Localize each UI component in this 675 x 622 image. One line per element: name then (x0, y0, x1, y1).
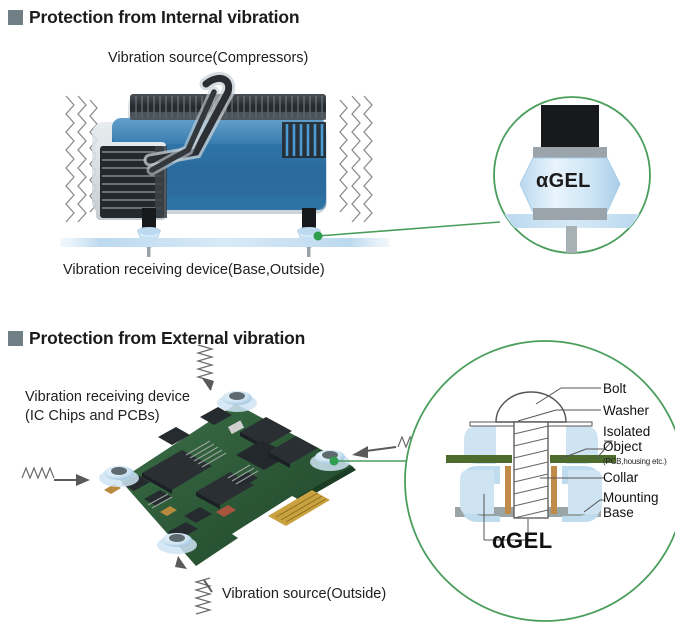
spring-arrow-left (22, 468, 78, 480)
xs-label-isolated-object: Isolated Object (PCB,housing etc.) (603, 424, 667, 469)
spring-arrow-bottom (196, 578, 212, 614)
pcb-gel-mount-left (99, 466, 139, 487)
section-title-internal: Protection from Internal vibration (29, 7, 299, 28)
square-marker-icon (8, 10, 23, 25)
xs-label-isolated-sub: (PCB,housing etc.) (603, 454, 667, 469)
spring-arrowhead-top (203, 378, 214, 390)
callout-leader-1 (318, 222, 500, 236)
external-vibration-illustration (22, 345, 432, 614)
section-title-external: Protection from External vibration (29, 328, 305, 349)
xs-label-washer: Washer (603, 403, 649, 418)
square-marker-icon (8, 331, 23, 346)
spring-arrowhead-bottom (175, 556, 187, 569)
section-heading-external: Protection from External vibration (8, 328, 305, 349)
callout-anchor-dot-1 (314, 232, 323, 241)
pcb-board (104, 404, 356, 566)
xs-label-mounting-line2: Base (603, 505, 659, 520)
xs-label-collar: Collar (603, 470, 638, 485)
callout-anchor-dot-2 (330, 457, 339, 466)
xs-isolated-object-left (446, 455, 512, 463)
agel-label-circle1: αGEL (536, 170, 591, 193)
compressor-right-fins (282, 122, 326, 158)
spring-arrowhead-right (352, 446, 368, 458)
label-vibration-receiving-device-pcb: Vibration receiving device (IC Chips and… (25, 388, 190, 426)
xs-bolt-shaft (514, 422, 548, 518)
label-vibration-receiving-device-base: Vibration receiving device(Base,Outside) (63, 262, 325, 278)
xs-collar-right (551, 466, 557, 514)
xs-label-isolated-line1: Isolated (603, 424, 667, 439)
illustration-layer (0, 0, 675, 622)
callout1-post (541, 105, 599, 149)
xs-label-bolt: Bolt (603, 381, 626, 396)
label-receiver-line1: Vibration receiving device (25, 388, 190, 407)
spring-arrowhead-left (76, 474, 90, 486)
label-receiver-line2: (IC Chips and PCBs) (25, 407, 190, 426)
agel-label-circle2: αGEL (492, 528, 553, 554)
section-heading-internal: Protection from Internal vibration (8, 7, 299, 28)
label-vibration-source-compressors: Vibration source(Compressors) (108, 50, 308, 66)
pcb-gel-mount-top (217, 391, 257, 412)
label-vibration-source-outside: Vibration source(Outside) (222, 586, 386, 602)
xs-label-mounting-line1: Mounting (603, 490, 659, 505)
vibration-wave-right (340, 96, 372, 222)
internal-vibration-illustration (60, 78, 500, 257)
base-bar (60, 238, 390, 247)
xs-label-isolated-line2: Object (603, 439, 667, 454)
xs-label-mounting-base: Mounting Base (603, 490, 659, 520)
xs-collar-left (505, 466, 511, 514)
